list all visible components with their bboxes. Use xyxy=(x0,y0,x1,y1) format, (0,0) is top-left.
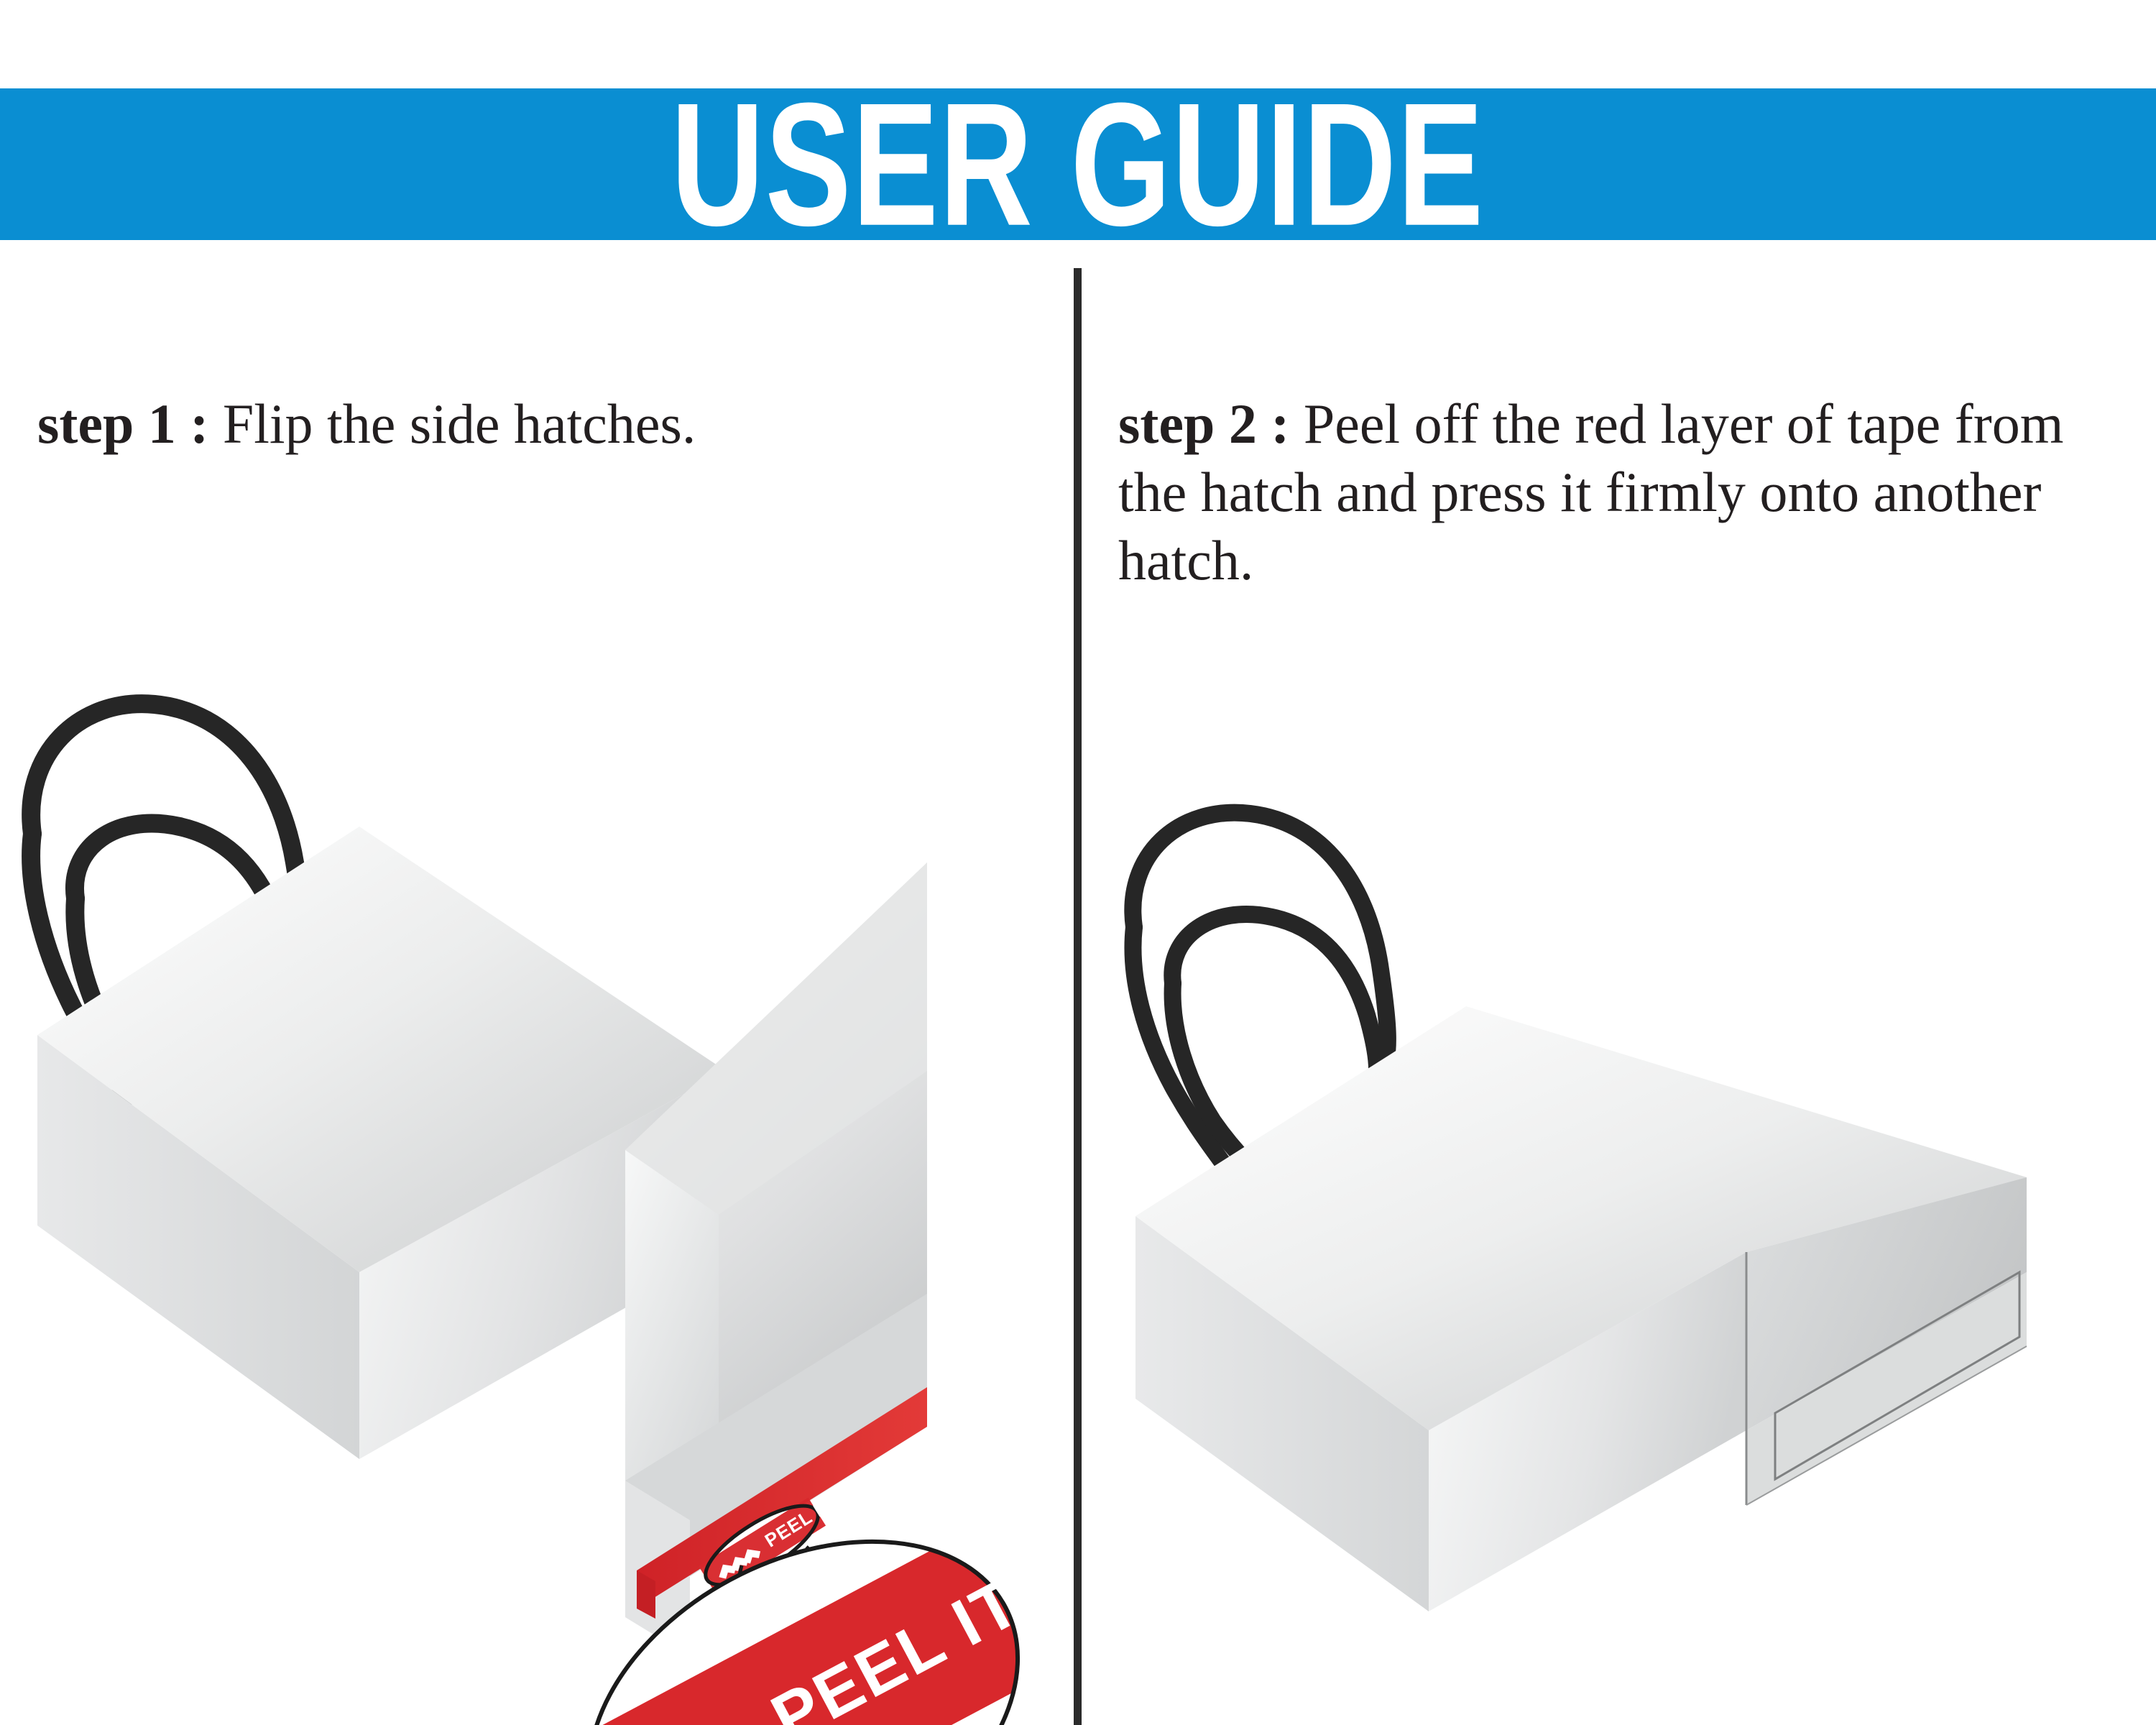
header-banner: USER GUIDE xyxy=(0,88,2156,240)
step-2-instruction: step 2 : Peel off the red layer of tape … xyxy=(1118,390,2146,594)
step-1-body: Flip the side hatches. xyxy=(208,392,696,455)
step-1-illustration: PEEL IT PEEL IT xyxy=(0,647,1021,1725)
column-divider xyxy=(1074,268,1082,1725)
step-2-label: step 2 : xyxy=(1118,392,1289,455)
page-title: USER GUIDE xyxy=(671,89,1485,240)
step-1-instruction: step 1 : Flip the side hatches. xyxy=(37,390,1029,458)
step-1-label: step 1 : xyxy=(37,392,208,455)
step-2-illustration xyxy=(1107,776,2156,1624)
